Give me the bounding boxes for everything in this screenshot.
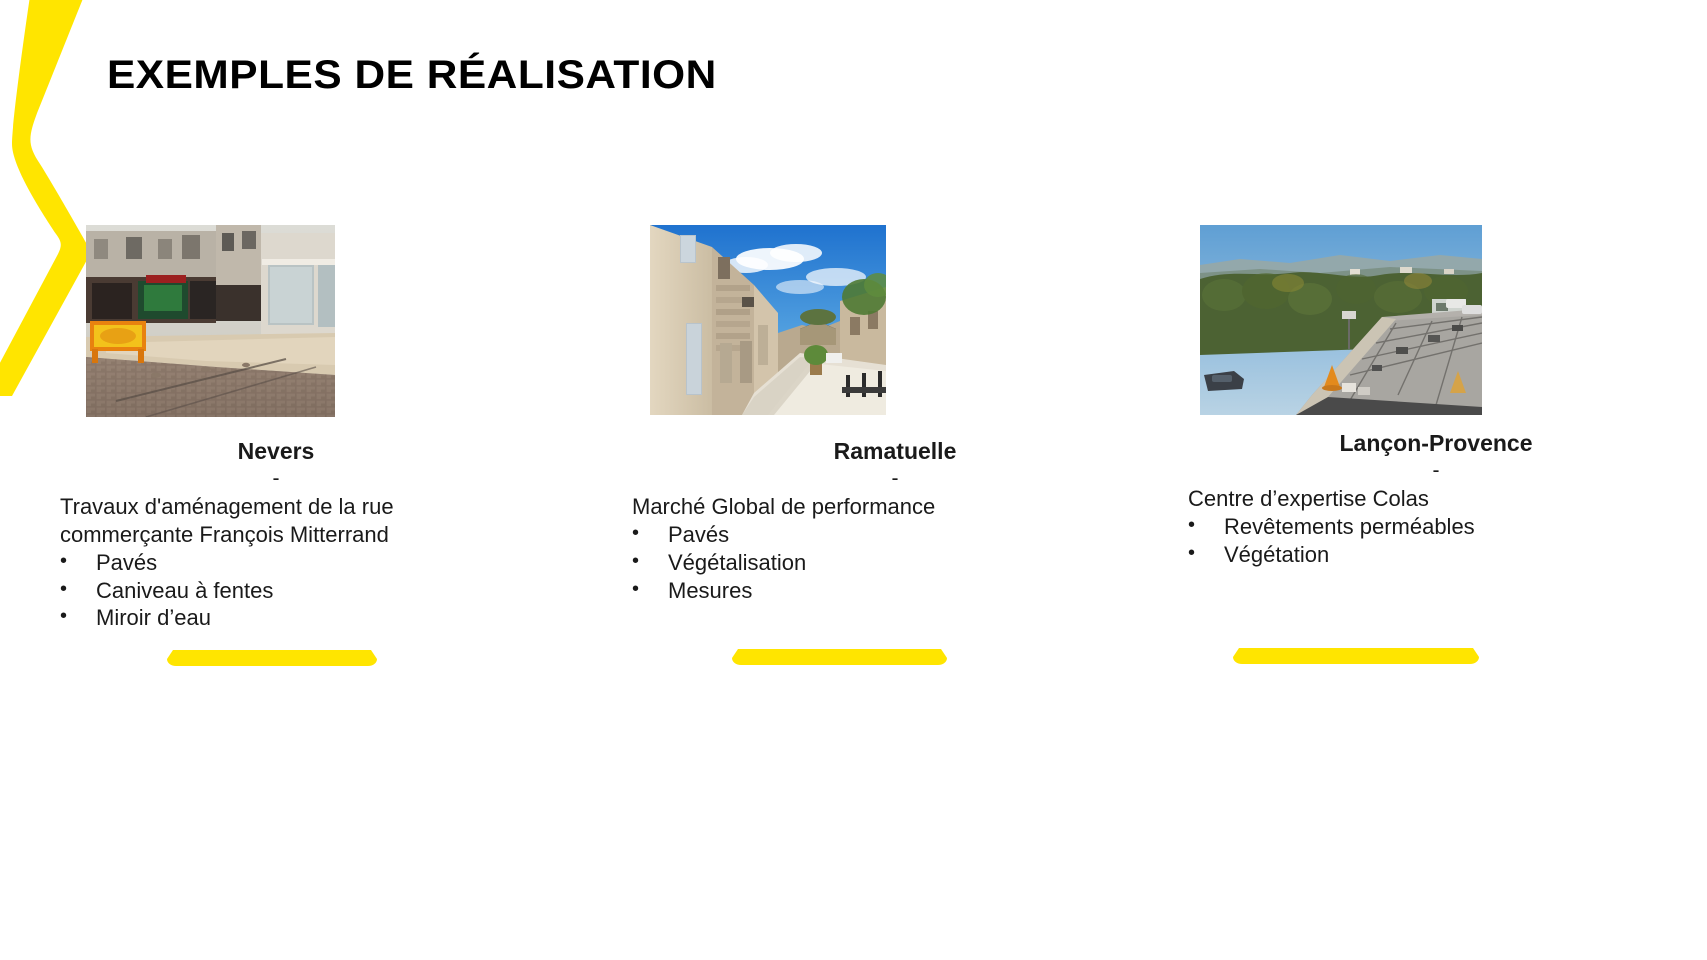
place-name: Lançon-Provence [1188, 430, 1628, 457]
yellow-underline-bar [1229, 648, 1483, 664]
example-text-block: Nevers - Travaux d'aménagement de la rue… [60, 438, 500, 632]
presentation-slide: EXEMPLES DE RÉALISATION [0, 0, 1707, 960]
lancon-provence-aerial-photo [1200, 225, 1482, 415]
bullet-list: • Pavés • Caniveau à fentes • Miroir d’e… [60, 549, 500, 632]
list-item: • Miroir d’eau [60, 604, 500, 632]
list-item: • Végétalisation [632, 549, 1062, 577]
separator-dash: - [52, 465, 500, 492]
bullet-marker-icon: • [1188, 513, 1224, 538]
bullet-marker-icon: • [632, 577, 668, 602]
example-column-nevers: Nevers - Travaux d'aménagement de la rue… [60, 225, 500, 632]
list-item: • Végétation [1188, 541, 1628, 569]
list-item-label: Caniveau à fentes [96, 577, 273, 605]
list-item: • Caniveau à fentes [60, 577, 500, 605]
list-item: • Revêtements perméables [1188, 513, 1628, 541]
list-item-label: Mesures [668, 577, 752, 605]
example-column-ramatuelle: Ramatuelle - Marché Global de performanc… [632, 225, 1062, 604]
yellow-underline-bar [728, 649, 951, 665]
photo-container [60, 225, 500, 420]
bullet-marker-icon: • [60, 549, 96, 574]
bullet-marker-icon: • [1188, 541, 1224, 566]
list-item-label: Pavés [96, 549, 157, 577]
slide-footer: COLAS FUTURA MOBILITY - StreetADAPT - 05… [0, 840, 1707, 960]
separator-dash: - [1188, 457, 1628, 484]
bullet-marker-icon: • [632, 549, 668, 574]
list-item-label: Végétation [1224, 541, 1329, 569]
description-text: Travaux d'aménagement de la rue commerça… [60, 493, 500, 548]
list-item: • Mesures [632, 577, 1062, 605]
example-column-lancon-provence: Lançon-Provence - Centre d’expertise Col… [1188, 225, 1628, 569]
list-item-label: Végétalisation [668, 549, 806, 577]
list-item-label: Pavés [668, 521, 729, 549]
example-text-block: Lançon-Provence - Centre d’expertise Col… [1188, 430, 1628, 569]
bullet-marker-icon: • [60, 577, 96, 602]
photo-container [1188, 225, 1628, 420]
list-item-label: Miroir d’eau [96, 604, 211, 632]
list-item: • Pavés [632, 521, 1062, 549]
list-item-label: Revêtements perméables [1224, 513, 1475, 541]
bullet-list: • Pavés • Végétalisation • Mesures [632, 521, 1062, 604]
nevers-street-photo [86, 225, 335, 417]
page-title: EXEMPLES DE RÉALISATION [107, 53, 717, 98]
place-name: Ramatuelle [632, 438, 1062, 465]
place-name: Nevers [52, 438, 500, 465]
bullet-marker-icon: • [60, 604, 96, 629]
separator-dash: - [632, 465, 1062, 492]
description-text: Marché Global de performance [632, 493, 1062, 521]
ramatuelle-street-photo [650, 225, 886, 415]
description-text: Centre d’expertise Colas [1188, 485, 1628, 513]
yellow-underline-bar [163, 650, 381, 666]
bullet-list: • Revêtements perméables • Végétation [1188, 513, 1628, 568]
photo-container [632, 225, 1062, 420]
bullet-marker-icon: • [632, 521, 668, 546]
example-text-block: Ramatuelle - Marché Global de performanc… [632, 438, 1062, 604]
list-item: • Pavés [60, 549, 500, 577]
